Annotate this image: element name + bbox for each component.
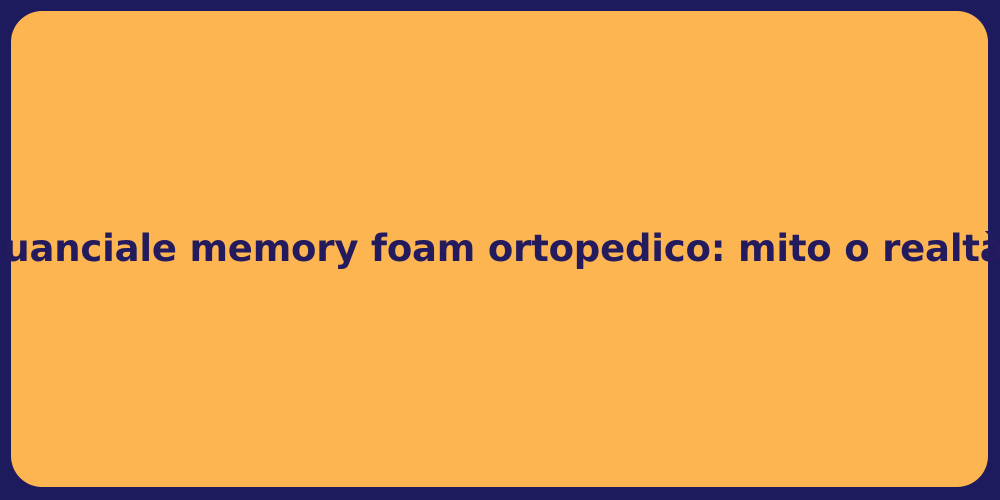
- banner-panel: Guanciale memory foam ortopedico: mito o…: [11, 11, 988, 487]
- banner-title: Guanciale memory foam ortopedico: mito o…: [0, 226, 1000, 272]
- banner-outer-frame: Guanciale memory foam ortopedico: mito o…: [0, 0, 1000, 500]
